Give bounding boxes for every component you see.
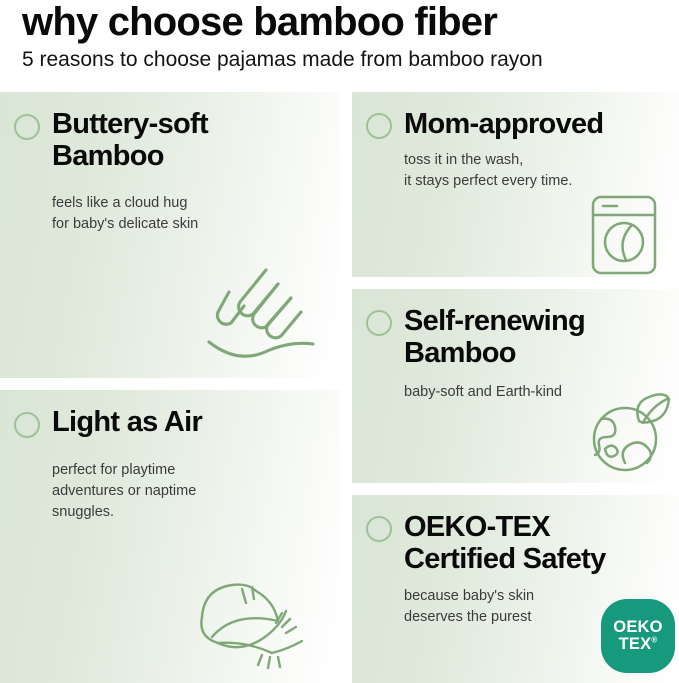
registered-trademark-icon: ®: [651, 636, 657, 645]
card-body-text: baby-soft and Earth-kind: [352, 382, 679, 403]
benefit-card-oeko-tex-certified-safety: OEKO-TEX Certified Safety because baby's…: [352, 495, 679, 683]
benefit-card-mom-approved: Mom-approved toss it in the wash, it sta…: [352, 92, 679, 277]
card-header: Buttery-soft Bamboo: [0, 92, 340, 173]
circle-bullet-icon: [14, 412, 40, 438]
card-title: Light as Air: [52, 406, 202, 438]
benefit-card-self-renewing-bamboo: Self-renewing Bamboo baby-soft and Earth…: [352, 289, 679, 483]
card-title: Mom-approved: [404, 108, 603, 140]
page-subtitle: 5 reasons to choose pajamas made from ba…: [22, 47, 679, 73]
card-body-text: perfect for playtime adventures or napti…: [0, 460, 340, 522]
washing-machine-icon: [587, 191, 663, 277]
card-header: Light as Air: [0, 390, 340, 438]
infographic-header: why choose bamboo fiber 5 reasons to cho…: [0, 0, 679, 73]
circle-bullet-icon: [366, 310, 392, 336]
circle-bullet-icon: [14, 114, 40, 140]
card-title: Self-renewing Bamboo: [404, 305, 663, 370]
left-column: Buttery-soft Bamboo feels like a cloud h…: [0, 92, 340, 683]
oeko-tex-badge: OEKO TEX®: [601, 599, 675, 673]
page-title: why choose bamboo fiber: [22, 2, 679, 43]
card-title: OEKO-TEX Certified Safety: [404, 511, 663, 576]
right-column: Mom-approved toss it in the wash, it sta…: [352, 92, 679, 683]
benefits-grid: Buttery-soft Bamboo feels like a cloud h…: [0, 92, 679, 683]
card-title: Buttery-soft Bamboo: [52, 108, 312, 173]
hand-fabric-icon: [202, 262, 322, 372]
card-body-text: feels like a cloud hug for baby's delica…: [0, 193, 340, 234]
oeko-badge-tex-text: TEX: [619, 635, 652, 653]
benefit-card-light-as-air: Light as Air perfect for playtime advent…: [0, 390, 340, 683]
card-header: Self-renewing Bamboo: [352, 289, 679, 370]
circle-bullet-icon: [366, 113, 392, 139]
oeko-badge-line1: OEKO: [613, 619, 662, 636]
card-header: Mom-approved: [352, 92, 679, 140]
feather-icon: [188, 573, 316, 673]
card-body-text: toss it in the wash, it stays perfect ev…: [352, 150, 679, 191]
card-header: OEKO-TEX Certified Safety: [352, 495, 679, 576]
oeko-badge-line2: TEX®: [619, 636, 658, 653]
circle-bullet-icon: [366, 516, 392, 542]
benefit-card-buttery-soft-bamboo: Buttery-soft Bamboo feels like a cloud h…: [0, 92, 340, 378]
